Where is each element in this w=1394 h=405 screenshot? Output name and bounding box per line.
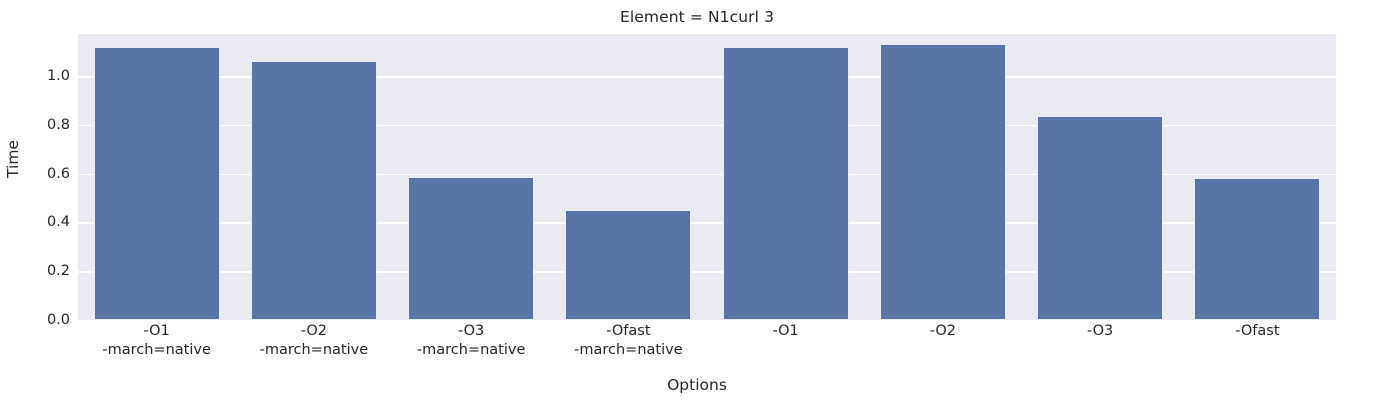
bar	[723, 47, 849, 320]
x-axis-tick-labels: -O1-march=native-O2-march=native-O3-marc…	[78, 322, 1336, 376]
x-tick-label-line: -Ofast	[574, 322, 683, 341]
y-tick-label: 0.0	[6, 313, 70, 328]
y-tick-label: 0.2	[6, 264, 70, 279]
y-axis-tick-labels: 0.00.20.40.60.81.0	[0, 34, 70, 320]
y-tick-label: 1.0	[6, 69, 70, 84]
chart-figure: Element = N1curl 3 Time 0.00.20.40.60.81…	[0, 0, 1394, 405]
x-tick-label-line: -Ofast	[1235, 322, 1279, 341]
x-tick-label: -Ofast	[1235, 322, 1279, 341]
x-tick-label-line: -O2	[930, 322, 956, 341]
x-tick-label: -O1-march=native	[102, 322, 211, 360]
x-tick-label: -O3	[1087, 322, 1113, 341]
x-tick-label-line: -O3	[1087, 322, 1113, 341]
bar	[251, 61, 377, 320]
plot-area	[78, 34, 1336, 320]
y-tick-label: 0.8	[6, 118, 70, 133]
x-tick-label-line: -O3	[417, 322, 526, 341]
y-tick-label: 0.6	[6, 166, 70, 181]
bar	[94, 47, 220, 320]
x-tick-label: -O1	[772, 322, 798, 341]
x-tick-label: -O3-march=native	[417, 322, 526, 360]
x-tick-label-line: -march=native	[102, 341, 211, 360]
y-tick-label: 0.4	[6, 215, 70, 230]
bar	[1194, 178, 1320, 320]
bar	[1037, 116, 1163, 320]
x-tick-label: -O2-march=native	[260, 322, 369, 360]
x-tick-label: -O2	[930, 322, 956, 341]
x-tick-label: -Ofast-march=native	[574, 322, 683, 360]
x-tick-label-line: -march=native	[417, 341, 526, 360]
chart-title: Element = N1curl 3	[0, 8, 1394, 26]
bars-layer	[78, 34, 1336, 320]
bar	[880, 44, 1006, 320]
x-tick-label-line: -march=native	[260, 341, 369, 360]
x-tick-label-line: -O1	[772, 322, 798, 341]
x-tick-label-line: -march=native	[574, 341, 683, 360]
bar	[565, 210, 691, 320]
bar	[408, 177, 534, 320]
x-tick-label-line: -O2	[260, 322, 369, 341]
x-axis-label: Options	[0, 376, 1394, 394]
x-tick-label-line: -O1	[102, 322, 211, 341]
